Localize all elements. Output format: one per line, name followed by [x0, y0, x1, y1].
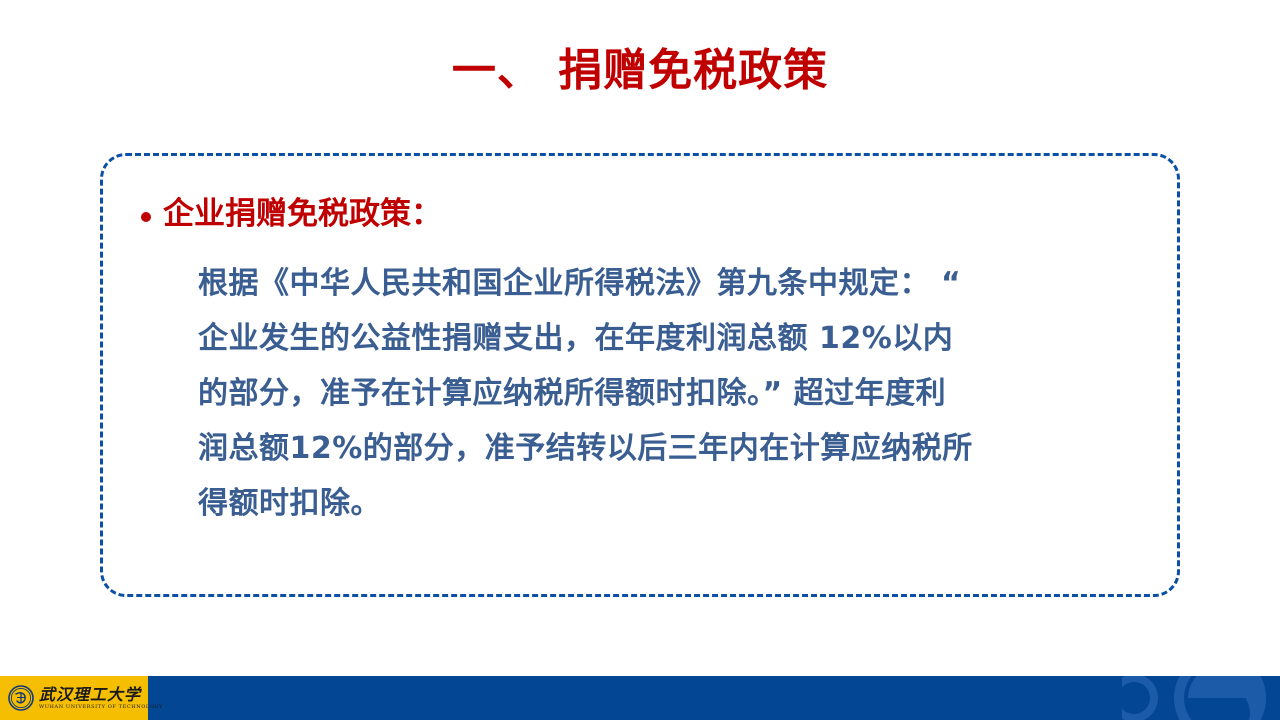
- slide-canvas: 一、 捐赠免税政策 企业捐赠免税政策： 根据《中华人民共和国企业所得税法》第九条…: [0, 0, 1280, 720]
- body-paragraph: 根据《中华人民共和国企业所得税法》第九条中规定： “ 企业发生的公益性捐赠支出，…: [198, 256, 1163, 531]
- content-box: 企业捐赠免税政策： 根据《中华人民共和国企业所得税法》第九条中规定： “ 企业发…: [100, 153, 1180, 597]
- bullet-heading-label: 企业捐赠免税政策：: [163, 196, 442, 233]
- bullet-heading: 企业捐赠免税政策：: [141, 196, 442, 233]
- university-name-cn: 武汉理工大学: [39, 687, 163, 703]
- swirl-arc-icon: [1070, 676, 1280, 720]
- university-name-en: WUHAN UNIVERSITY OF TECHNOLOGY: [39, 705, 163, 710]
- body-line: 的部分，准予在计算应纳税所得额时扣除。” 超过年度利: [198, 366, 1163, 421]
- footer-bar: 武汉理工大学 WUHAN UNIVERSITY OF TECHNOLOGY: [0, 676, 1280, 720]
- page-title: 一、 捐赠免税政策: [0, 46, 1280, 97]
- wut-wordmark: 武汉理工大学 WUHAN UNIVERSITY OF TECHNOLOGY: [39, 687, 163, 710]
- body-line: 根据《中华人民共和国企业所得税法》第九条中规定： “: [198, 256, 1163, 311]
- body-line: 润总额12%的部分，准予结转以后三年内在计算应纳税所: [198, 421, 1163, 476]
- body-line: 得额时扣除。: [198, 476, 1163, 531]
- body-line: 企业发生的公益性捐赠支出，在年度利润总额 12%以内: [198, 311, 1163, 366]
- university-logo: 武汉理工大学 WUHAN UNIVERSITY OF TECHNOLOGY: [0, 676, 148, 720]
- bullet-dot-icon: [141, 212, 151, 222]
- wut-circular-emblem-icon: [8, 685, 34, 711]
